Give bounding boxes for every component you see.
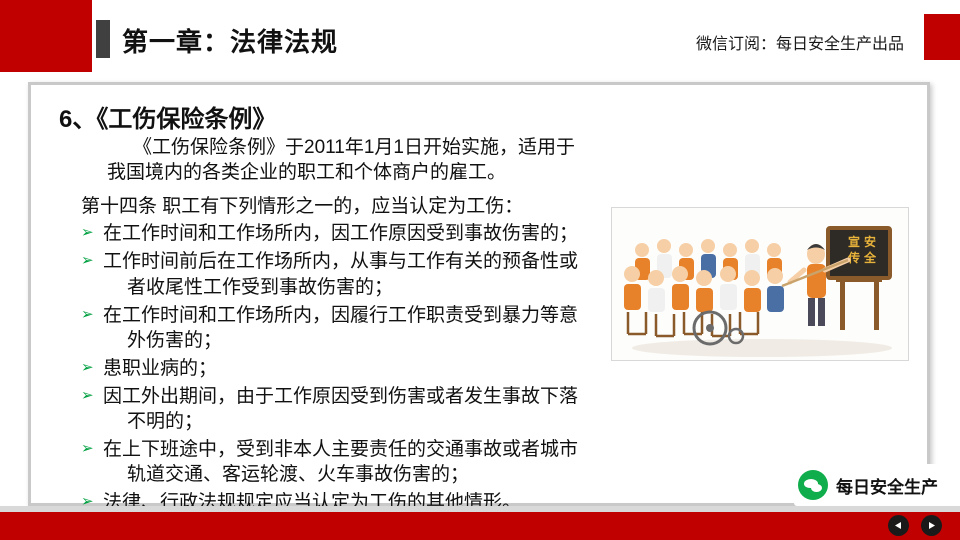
- list-item: ➢ 在上下班途中，受到非本人主要责任的交通事故或者城市 轨道交通、客运轮渡、火车…: [81, 437, 661, 487]
- list-item: ➢ 患职业病的；: [81, 356, 661, 381]
- bullet-arrow-icon: ➢: [81, 304, 94, 327]
- wechat-icon: [798, 470, 828, 500]
- svg-text:宣: 宣: [848, 234, 860, 249]
- list-item: ➢ 工作时间前后在工作场所内，从事与工作有关的预备性或 者收尾性工作受到事故伤害…: [81, 249, 661, 299]
- illustration-image: 宣 安 传 全: [611, 207, 909, 361]
- list-item-line-1: 因工外出期间，由于工作原因受到伤害或者发生事故下落: [103, 386, 578, 407]
- wechat-badge: 每日安全生产: [794, 464, 944, 506]
- footer-red-bar-left: [0, 512, 620, 540]
- header-red-block-left: [0, 0, 92, 72]
- chapter-title: 第一章：法律法规: [122, 22, 338, 59]
- intro-paragraph-line-2: 我国境内的各类企业的职工和个体商户的雇工。: [107, 162, 506, 183]
- list-item-line-2: 不明的；: [103, 409, 661, 434]
- prev-arrow-icon[interactable]: [888, 515, 909, 536]
- list-item-line-1: 在上下班途中，受到非本人主要责任的交通事故或者城市: [103, 439, 578, 460]
- list-item-line-1: 工作时间前后在工作场所内，从事与工作有关的预备性或: [103, 251, 578, 272]
- list-item-line-1: 在工作时间和工作场所内，因履行工作职责受到暴力等意: [103, 305, 578, 326]
- svg-text:传: 传: [847, 250, 860, 265]
- slide-navigation: [888, 515, 942, 536]
- list-item: ➢ 在工作时间和工作场所内，因履行工作职责受到暴力等意 外伤害的；: [81, 303, 661, 353]
- intro-paragraph-line-1: 《工伤保险条例》于2011年1月1日开始实施，适用于: [107, 136, 667, 161]
- bullet-arrow-icon: ➢: [81, 438, 94, 461]
- safety-training-cartoon-svg: 宣 安 传 全: [612, 208, 908, 360]
- slide: 第一章：法律法规 微信订阅：每日安全生产出品 6、《工伤保险条例》 《工伤保险条…: [0, 0, 960, 540]
- list-item-line-1: 在工作时间和工作场所内，因工作原因受到事故伤害的；: [103, 223, 578, 244]
- header-subscription-note: 微信订阅：每日安全生产出品: [696, 30, 904, 54]
- wechat-label: 每日安全生产: [836, 473, 938, 498]
- list-item-line-2: 外伤害的；: [103, 328, 661, 353]
- header-red-block-right: [924, 14, 960, 60]
- list-item-line-2: 者收尾性工作受到事故伤害的；: [103, 275, 661, 300]
- bullet-arrow-icon: ➢: [81, 250, 94, 273]
- bullet-list: ➢ 在工作时间和工作场所内，因工作原因受到事故伤害的； ➢ 工作时间前后在工作场…: [81, 221, 661, 515]
- list-item-line-2: 轨道交通、客运轮渡、火车事故伤害的；: [103, 462, 661, 487]
- list-item: ➢ 因工外出期间，由于工作原因受到伤害或者发生事故下落 不明的；: [81, 384, 661, 434]
- svg-text:全: 全: [863, 250, 877, 265]
- intro-paragraph: 《工伤保险条例》于2011年1月1日开始实施，适用于 我国境内的各类企业的职工和…: [107, 136, 667, 185]
- bullet-arrow-icon: ➢: [81, 222, 94, 245]
- section-title: 6、《工伤保险条例》: [59, 99, 917, 134]
- bullet-arrow-icon: ➢: [81, 357, 94, 380]
- list-item: ➢ 在工作时间和工作场所内，因工作原因受到事故伤害的；: [81, 221, 661, 246]
- next-arrow-icon[interactable]: [921, 515, 942, 536]
- svg-text:安: 安: [864, 234, 876, 249]
- content-frame: 6、《工伤保险条例》 《工伤保险条例》于2011年1月1日开始实施，适用于 我国…: [28, 82, 930, 506]
- bullet-arrow-icon: ➢: [81, 385, 94, 408]
- list-item-line-1: 患职业病的；: [103, 358, 217, 379]
- chapter-accent-bar: [96, 20, 110, 58]
